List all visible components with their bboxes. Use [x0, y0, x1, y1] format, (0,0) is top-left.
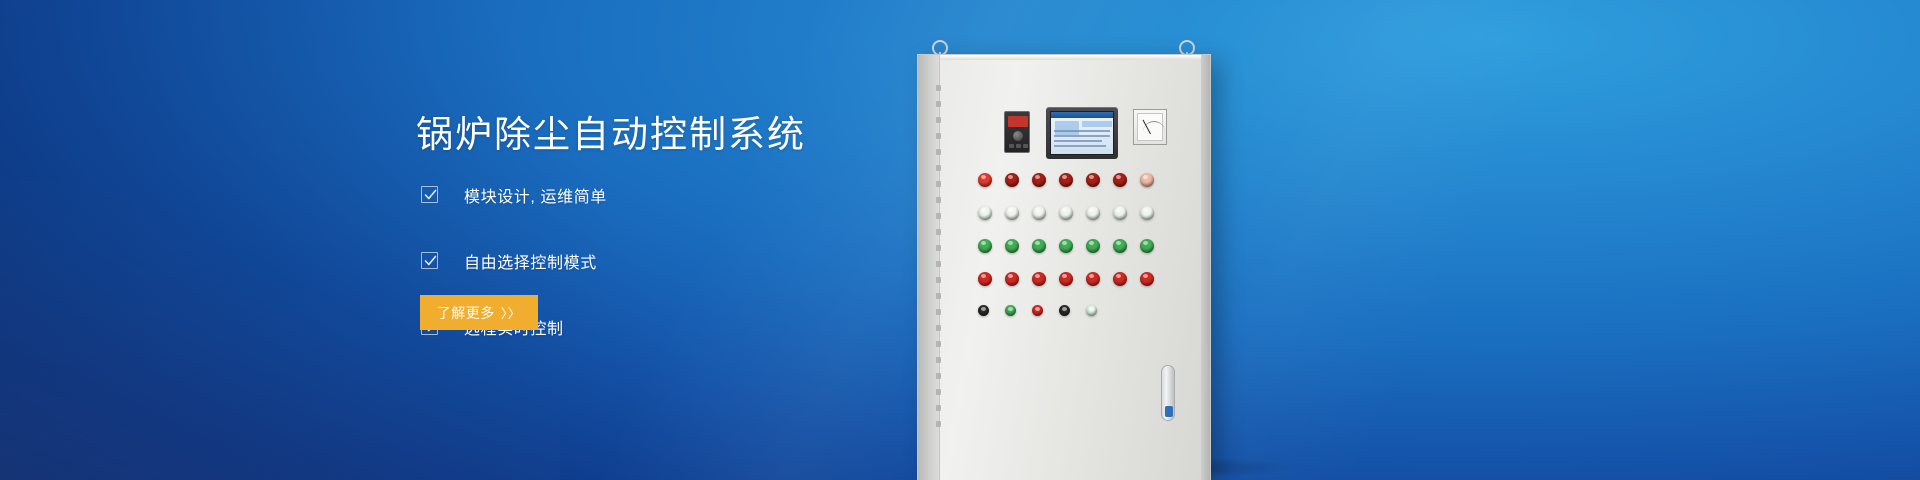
indicator-lamp[interactable] [1059, 206, 1073, 220]
indicator-lamp[interactable] [1140, 206, 1154, 220]
hmi-touchscreen[interactable] [1046, 107, 1118, 159]
hmi-data-row [1054, 140, 1102, 142]
list-item: 自由选择控制模式 [421, 244, 607, 277]
chevron-right-icon: 〉〉 [501, 303, 522, 322]
feature-label: 自由选择控制模式 [464, 249, 597, 273]
indicator-lamp[interactable] [1140, 272, 1154, 286]
learn-more-button[interactable]: 了解更多 〉〉 [420, 295, 538, 330]
hmi-data-row [1054, 130, 1110, 132]
hmi-widget [1082, 121, 1112, 127]
learn-more-label: 了解更多 [437, 303, 495, 323]
list-spacer [421, 211, 607, 244]
indicator-lamp[interactable] [1113, 272, 1127, 286]
indicator-lamp[interactable] [1059, 173, 1073, 187]
hmi-widget [1055, 121, 1079, 135]
list-item: 模块设计, 运维简单 [421, 178, 607, 211]
feature-label: 模块设计, 运维简单 [464, 183, 607, 207]
indicator-lamp[interactable] [1086, 239, 1100, 253]
door-lock-icon[interactable] [1165, 406, 1173, 417]
indicator-lamp[interactable] [1086, 272, 1100, 286]
checkbox-check-icon [421, 252, 438, 269]
indicator-lamp[interactable] [1113, 206, 1127, 220]
indicator-lamp[interactable] [1086, 206, 1100, 220]
hmi-data-row [1054, 135, 1110, 137]
banner-content: 锅炉除尘自动控制系统 模块设计, 运维简单 自由选择控制模式 [416, 0, 1056, 480]
checkbox-check-icon [421, 186, 438, 203]
gauge-face [1137, 113, 1163, 141]
indicator-lamp[interactable] [1113, 239, 1127, 253]
indicator-lamp[interactable] [1059, 239, 1073, 253]
page-title: 锅炉除尘自动控制系统 [416, 104, 806, 158]
analog-gauge [1133, 109, 1167, 145]
indicator-lamp[interactable] [1059, 272, 1073, 286]
cabinet-door-handle[interactable] [1161, 365, 1175, 421]
hmi-title-bar [1051, 112, 1113, 118]
indicator-lamp[interactable] [1140, 173, 1154, 187]
hero-banner: 锅炉除尘自动控制系统 模块设计, 运维简单 自由选择控制模式 [0, 0, 1920, 480]
indicator-lamp[interactable] [1086, 173, 1100, 187]
cabinet-right-edge [1201, 55, 1210, 480]
hmi-screen-surface [1050, 111, 1114, 155]
indicator-lamp[interactable] [1113, 173, 1127, 187]
indicator-lamp[interactable] [1059, 305, 1070, 316]
hmi-data-row [1054, 145, 1106, 147]
indicator-lamp[interactable] [1086, 305, 1097, 316]
indicator-lamp[interactable] [1140, 239, 1154, 253]
